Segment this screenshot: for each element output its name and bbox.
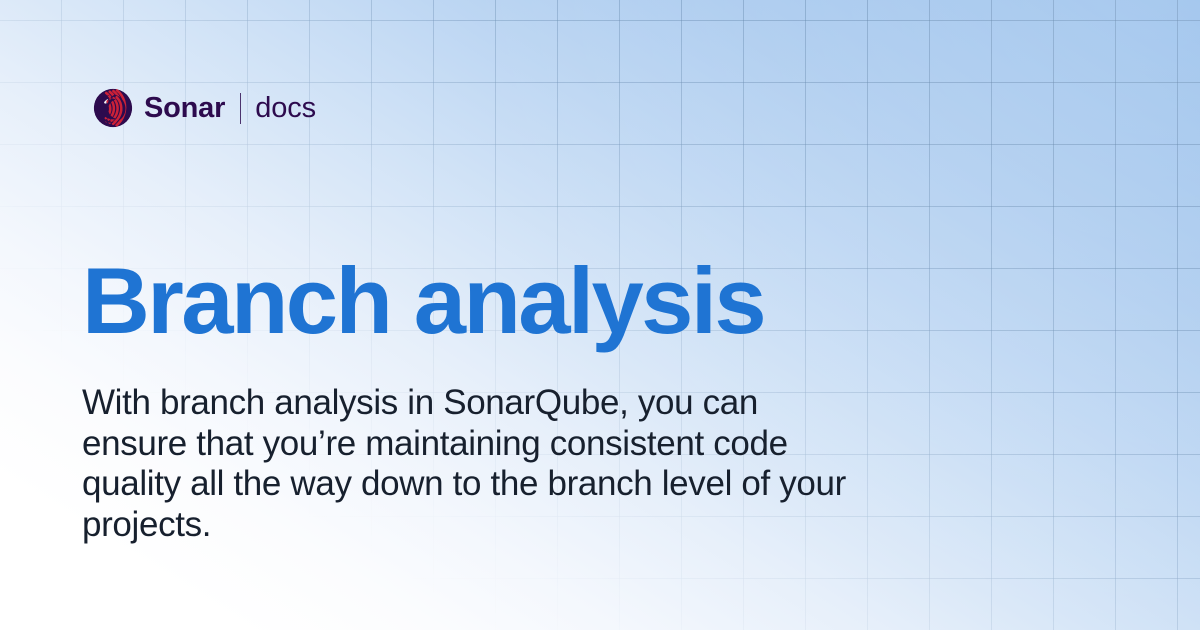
social-share-banner: Sonar docs Branch analysis With branch a… bbox=[0, 0, 1200, 630]
brand-name-label: Sonar bbox=[144, 94, 225, 123]
sonar-logo-icon bbox=[93, 88, 133, 128]
page-description: With branch analysis in SonarQube, you c… bbox=[82, 383, 872, 545]
brand-section-label: docs bbox=[255, 94, 316, 123]
brand-lockup[interactable]: Sonar docs bbox=[93, 86, 316, 130]
brand-divider bbox=[240, 93, 241, 124]
page-title: Branch analysis bbox=[82, 254, 764, 348]
banner-content: Sonar docs Branch analysis With branch a… bbox=[0, 0, 1200, 630]
